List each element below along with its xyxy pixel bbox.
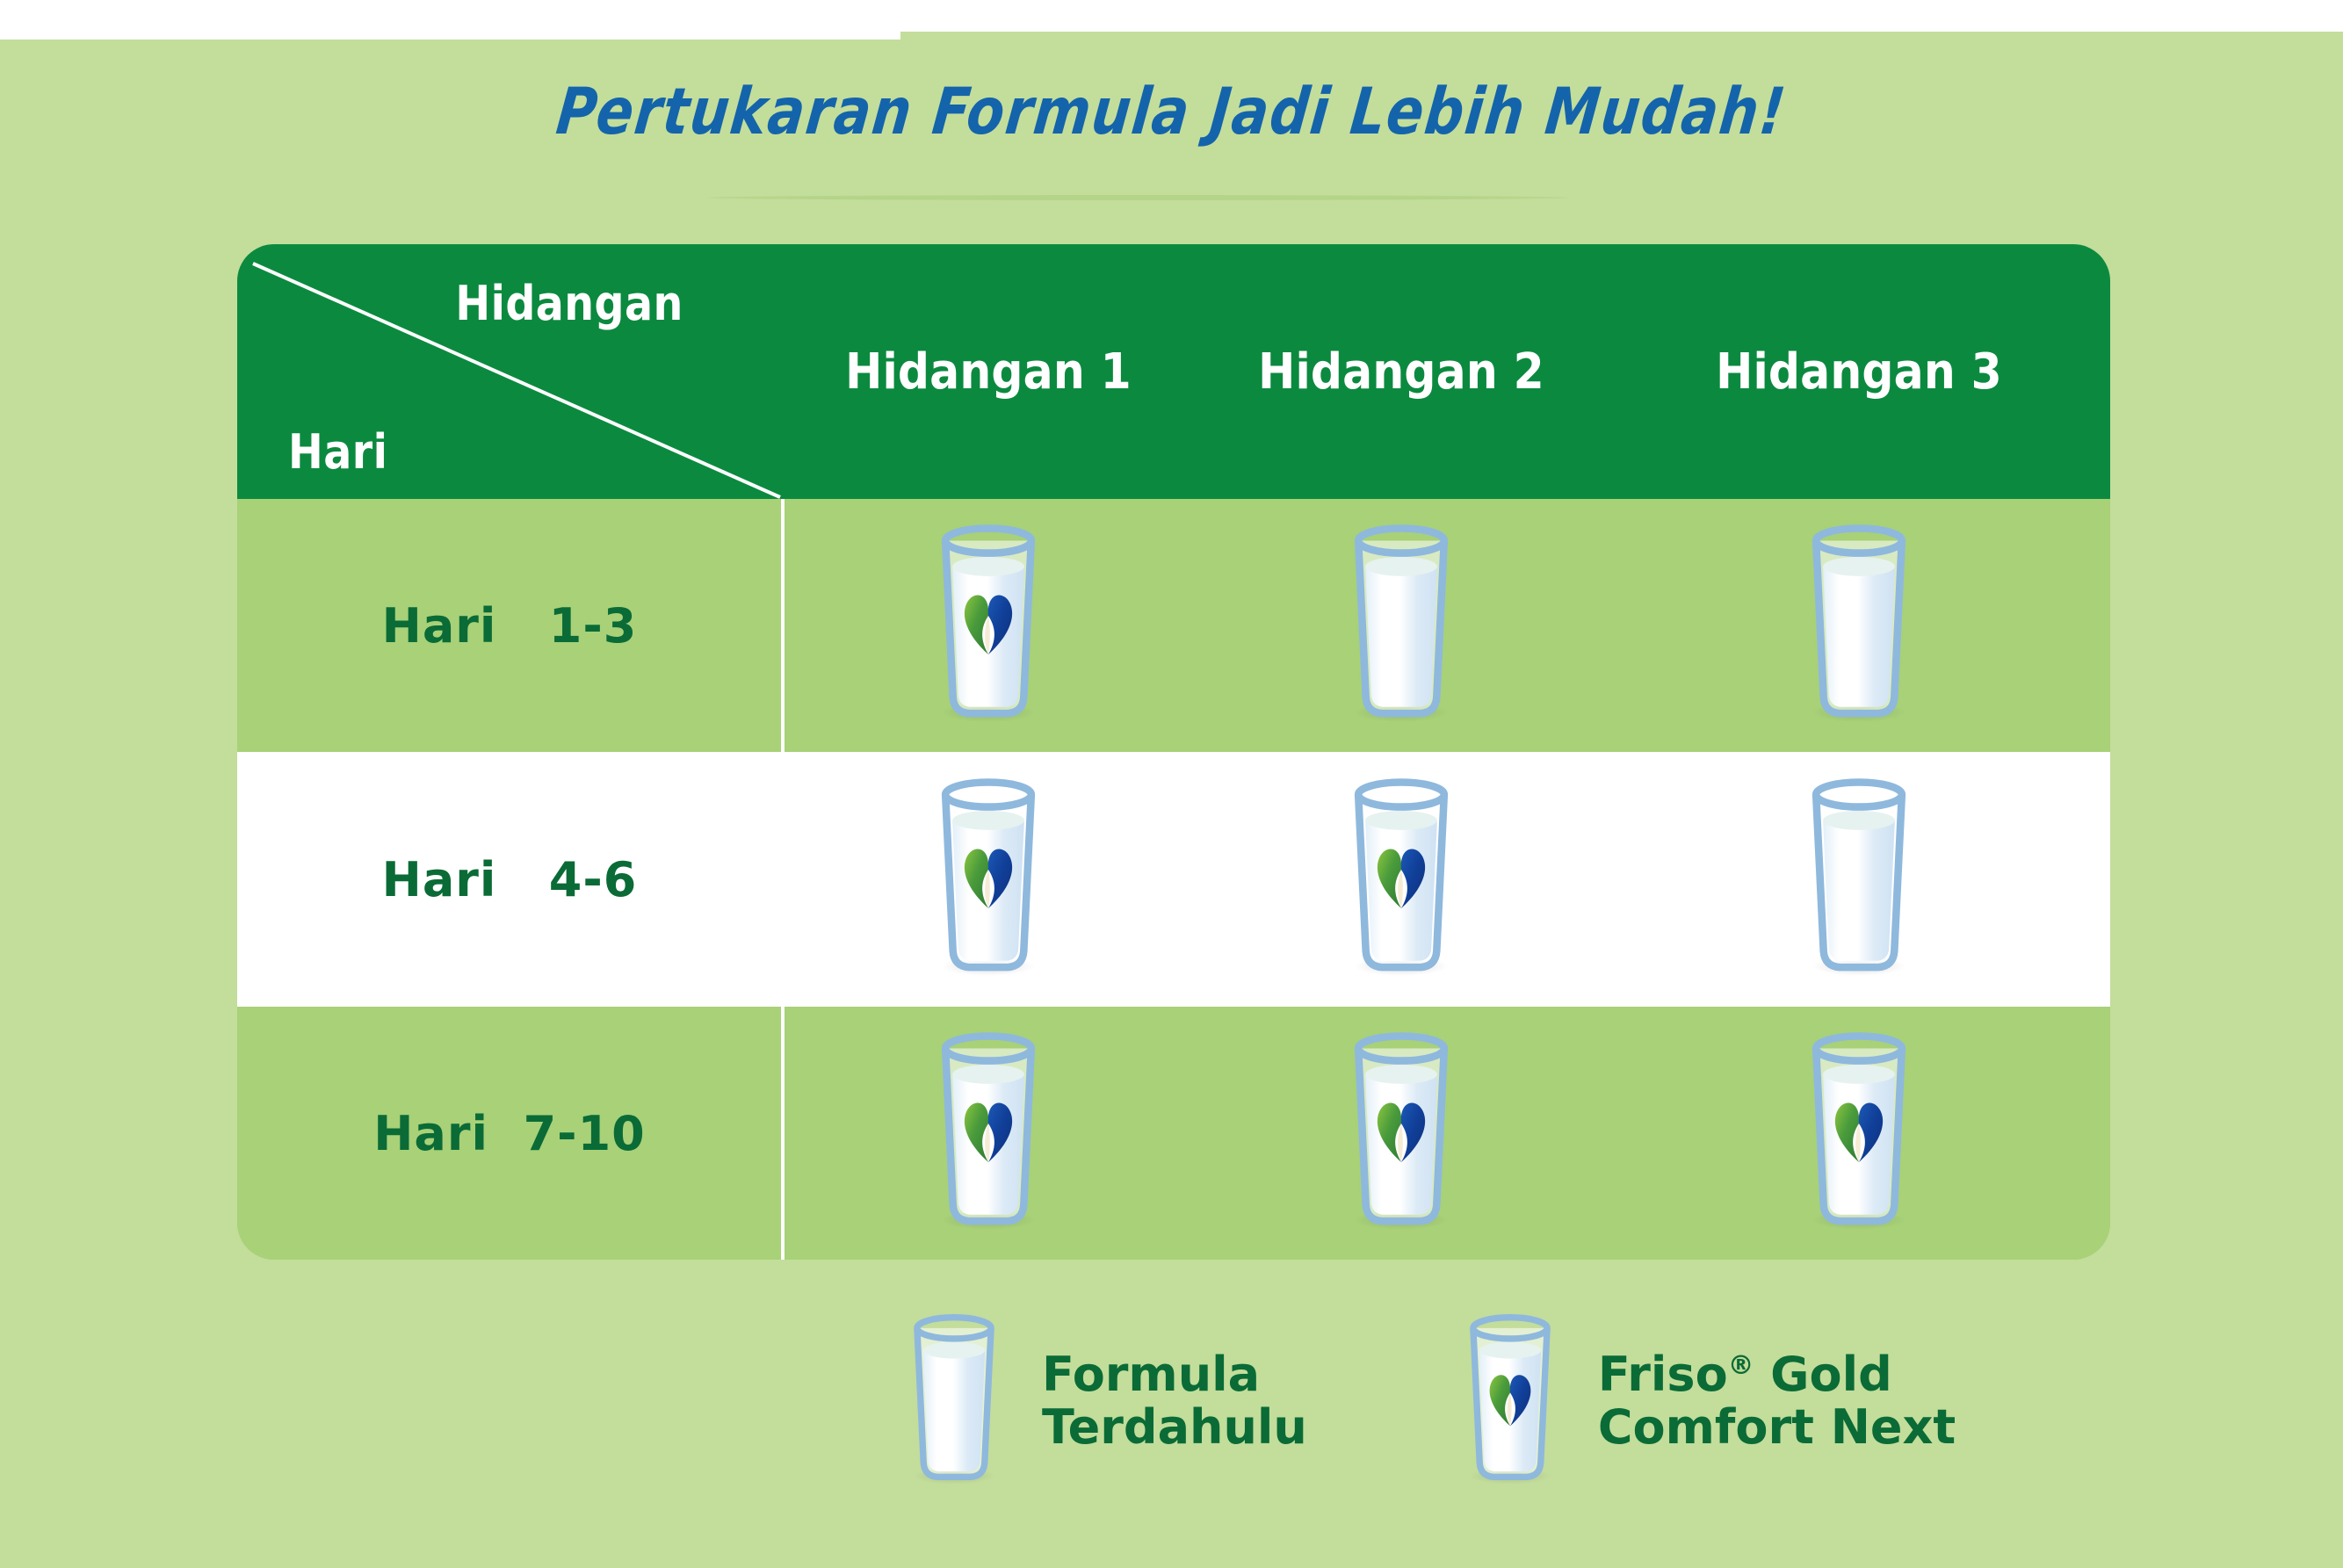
product-tier: Gold xyxy=(1754,1347,1891,1402)
cell-row2-col2 xyxy=(1195,752,1608,1007)
friso-gold-glass-icon xyxy=(906,524,1071,727)
friso-gold-glass-icon xyxy=(1452,1313,1568,1489)
brand-name: Friso xyxy=(1598,1347,1728,1402)
corner-axis-cell: Hidangan Hari xyxy=(237,244,782,499)
plain-glass-icon xyxy=(1776,777,1942,981)
page-title: Pertukaran Formula Jadi Lebih Mudah! xyxy=(553,73,1790,148)
column-header-1: Hidangan 1 xyxy=(782,244,1195,499)
cell-row2-col1 xyxy=(782,752,1195,1007)
row-label-2: Hari 4-6 xyxy=(237,752,782,1007)
column-header-2-label: Hidangan 2 xyxy=(1258,343,1544,401)
table-row: Hari 1-3 xyxy=(237,499,2110,752)
corner-column-axis-label: Hidangan xyxy=(456,276,683,331)
column-header-3-label: Hidangan 3 xyxy=(1716,343,2002,401)
legend-item-friso-gold-comfort-next: Friso® Gold Comfort Next xyxy=(1452,1313,1956,1489)
legend-label-formula-terdahulu: Formula Terdahulu xyxy=(1042,1348,1307,1455)
friso-gold-glass-icon xyxy=(906,1031,1071,1235)
registered-trademark-icon: ® xyxy=(1728,1350,1754,1381)
corner-row-axis-label: Hari xyxy=(288,424,387,480)
legend-label-line2: Comfort Next xyxy=(1598,1401,1956,1454)
legend-item-formula-terdahulu: Formula Terdahulu xyxy=(896,1313,1307,1489)
page-title-container: Pertukaran Formula Jadi Lebih Mudah! xyxy=(0,79,2343,143)
legend-label-friso-gold-comfort-next: Friso® Gold Comfort Next xyxy=(1598,1348,1956,1455)
cell-row3-col1 xyxy=(782,1007,1195,1260)
table-row: Hari 4-6 xyxy=(237,752,2110,1007)
cell-row3-col3 xyxy=(1608,1007,2110,1260)
friso-gold-glass-icon xyxy=(1319,777,1484,981)
table-row: Hari 7-10 xyxy=(237,1007,2110,1260)
plain-glass-icon xyxy=(896,1313,1012,1489)
friso-gold-glass-icon xyxy=(906,777,1071,981)
schedule-table: Hidangan Hari Hidangan 1 Hidangan 2 Hida… xyxy=(237,244,2110,1260)
plain-glass-icon xyxy=(1319,524,1484,727)
cell-row1-col2 xyxy=(1195,499,1608,752)
legend-label-line2: Terdahulu xyxy=(1042,1401,1307,1454)
row-label-3: Hari 7-10 xyxy=(237,1007,782,1260)
column-header-3: Hidangan 3 xyxy=(1608,244,2110,499)
title-underline-rule xyxy=(707,195,1568,200)
friso-gold-glass-icon xyxy=(1776,1031,1942,1235)
plain-glass-icon xyxy=(1776,524,1942,727)
legend-label-line1: Formula xyxy=(1042,1348,1307,1401)
legend: Formula Terdahulu Friso® Gold Comfort Ne… xyxy=(896,1300,2144,1502)
table-header-row: Hidangan Hari Hidangan 1 Hidangan 2 Hida… xyxy=(237,244,2110,499)
cell-row2-col3 xyxy=(1608,752,2110,1007)
row-label-1: Hari 1-3 xyxy=(237,499,782,752)
friso-gold-glass-icon xyxy=(1319,1031,1484,1235)
cell-row1-col3 xyxy=(1608,499,2110,752)
legend-label-line1: Friso® Gold xyxy=(1598,1348,1956,1401)
column-header-1-label: Hidangan 1 xyxy=(845,343,1132,401)
cell-row1-col1 xyxy=(782,499,1195,752)
column-header-2: Hidangan 2 xyxy=(1195,244,1608,499)
cell-row3-col2 xyxy=(1195,1007,1608,1260)
